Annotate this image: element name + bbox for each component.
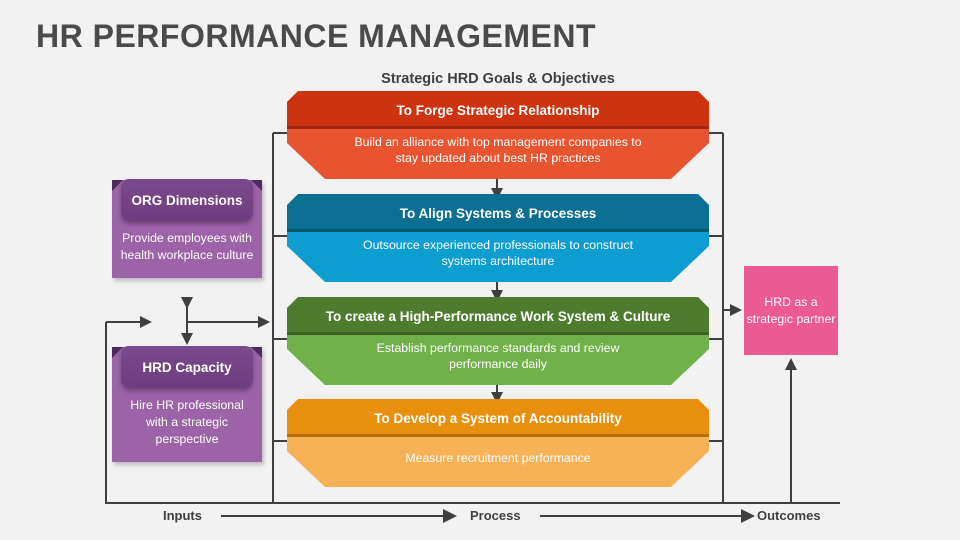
bottom-label-inputs: Inputs (163, 508, 202, 523)
outcome-box-hrd-strategic-partner[interactable]: HRD as a strategic partner (744, 266, 838, 355)
goal-banner-align-systems-processes[interactable]: To Align Systems & Processes Outsource e… (287, 194, 709, 282)
goal-banner-body: Measure recruitment performance (287, 437, 709, 487)
goal-banner-forge-strategic-relationship[interactable]: To Forge Strategic Relationship Build an… (287, 91, 709, 179)
goal-banner-high-performance-work-system[interactable]: To create a High-Performance Work System… (287, 297, 709, 385)
bottom-label-process: Process (470, 508, 521, 523)
goal-banner-title: To Forge Strategic Relationship (287, 91, 709, 129)
input-card-tab-label: ORG Dimensions (121, 179, 253, 221)
input-card-org-dimensions[interactable]: ORG Dimensions Provide employees with he… (112, 180, 262, 278)
goal-banner-body: Build an alliance with top management co… (287, 129, 709, 179)
input-card-tab-label: HRD Capacity (121, 346, 253, 388)
goal-banner-title: To Align Systems & Processes (287, 194, 709, 232)
input-card-box: ORG Dimensions Provide employees with he… (112, 180, 262, 278)
input-card-box: HRD Capacity Hire HR professional with a… (112, 347, 262, 462)
goal-banner-body: Establish performance standards and revi… (287, 335, 709, 385)
goal-banner-title: To create a High-Performance Work System… (287, 297, 709, 335)
input-card-hrd-capacity[interactable]: HRD Capacity Hire HR professional with a… (112, 347, 262, 462)
goal-banner-system-of-accountability[interactable]: To Develop a System of Accountability Me… (287, 399, 709, 487)
goal-banner-title: To Develop a System of Accountability (287, 399, 709, 437)
goal-banner-body: Outsource experienced professionals to c… (287, 232, 709, 282)
bottom-label-outcomes: Outcomes (757, 508, 821, 523)
outcome-box-label: HRD as a strategic partner (744, 294, 838, 328)
